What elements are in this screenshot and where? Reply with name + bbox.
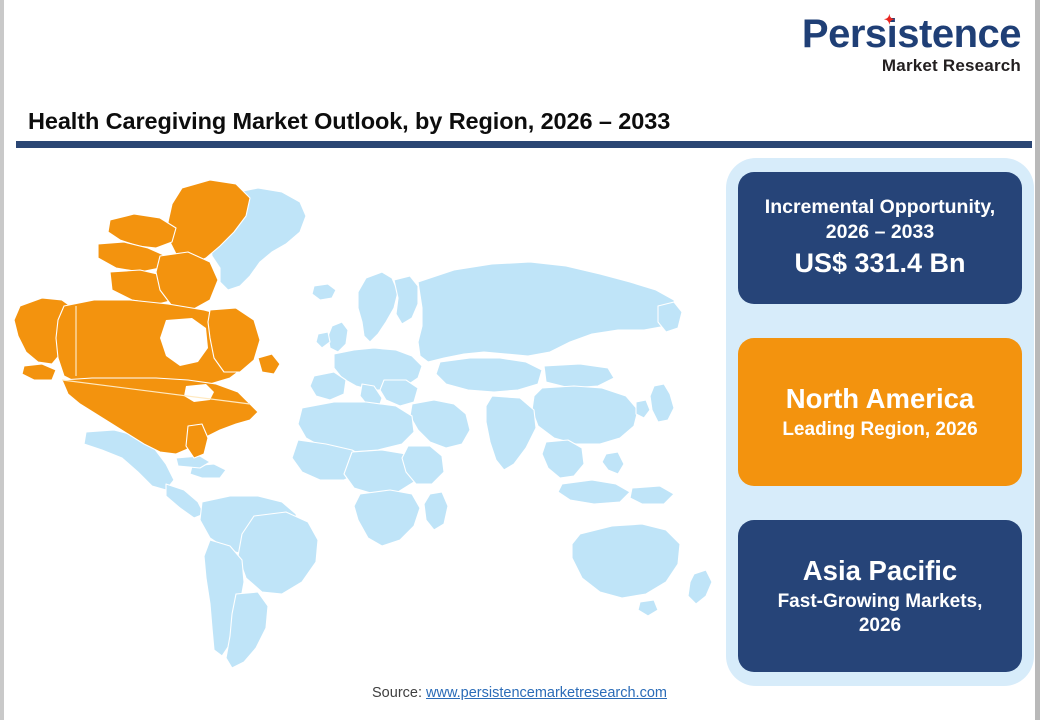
region-japan <box>650 384 674 422</box>
region-korea <box>636 400 650 418</box>
incremental-opportunity-label-line1: Incremental Opportunity, <box>765 195 995 220</box>
region-iberia <box>310 372 346 400</box>
page-title: Health Caregiving Market Outlook, by Reg… <box>28 108 670 135</box>
region-ireland <box>316 332 330 348</box>
incremental-opportunity-value: US$ 331.4 Bn <box>794 247 965 281</box>
region-madagascar <box>424 492 448 530</box>
world-map <box>14 158 724 678</box>
fast-growing-market-name: Asia Pacific <box>803 554 957 587</box>
region-central-asia <box>436 358 542 392</box>
region-newfoundland <box>258 354 280 374</box>
region-southern-africa <box>354 490 420 546</box>
leading-region-name: North America <box>786 382 974 415</box>
logo-wordmark: Persistence ✦ <box>802 14 1021 54</box>
region-philippines <box>602 452 624 474</box>
region-new-guinea <box>630 486 674 504</box>
world-map-svg <box>14 158 724 678</box>
logo-tagline: Market Research <box>802 57 1021 74</box>
region-russia <box>418 262 678 362</box>
title-divider <box>16 141 1032 148</box>
source-link[interactable]: www.persistencemarketresearch.com <box>426 685 667 701</box>
region-aleutians <box>22 364 56 380</box>
source-footer: Source: www.persistencemarketresearch.co… <box>4 685 1035 701</box>
region-central-america <box>166 484 204 518</box>
highlights-panel: Incremental Opportunity, 2026 – 2033 US$… <box>726 158 1034 686</box>
region-australia <box>572 524 680 598</box>
leading-region-caption: Leading Region, 2026 <box>782 418 977 442</box>
source-label: Source: <box>372 685 422 701</box>
region-brazil <box>238 512 318 594</box>
region-uk <box>328 322 348 352</box>
incremental-opportunity-card: Incremental Opportunity, 2026 – 2033 US$… <box>738 172 1022 304</box>
region-new-zealand <box>688 570 712 604</box>
region-finland <box>394 276 418 324</box>
region-southeast-asia <box>542 440 584 478</box>
fast-growing-market-caption-line1: Fast-Growing Markets, <box>778 590 983 614</box>
fast-growing-market-caption-line2: 2026 <box>859 614 901 638</box>
region-scandinavia <box>358 272 398 342</box>
map-highlighted-regions <box>14 180 280 458</box>
region-balkans <box>380 380 418 406</box>
region-south-asia <box>486 396 536 470</box>
region-kamchatka <box>658 302 682 332</box>
region-iceland <box>312 284 336 300</box>
fast-growing-market-card: Asia Pacific Fast-Growing Markets, 2026 <box>738 520 1022 672</box>
region-florida <box>186 424 208 458</box>
incremental-opportunity-label-line2: 2026 – 2033 <box>826 220 934 245</box>
leading-region-card: North America Leading Region, 2026 <box>738 338 1022 486</box>
region-mongolia <box>544 364 614 388</box>
company-logo: Persistence ✦ Market Research <box>802 14 1021 74</box>
region-indonesia <box>558 480 630 504</box>
region-east-asia <box>532 386 638 444</box>
star-icon: ✦ <box>884 15 893 24</box>
region-tasmania <box>638 600 658 616</box>
region-middle-east <box>410 400 470 448</box>
logo-company-name: Persistence <box>802 12 1021 56</box>
infographic-canvas: Persistence ✦ Market Research Health Car… <box>0 0 1040 720</box>
